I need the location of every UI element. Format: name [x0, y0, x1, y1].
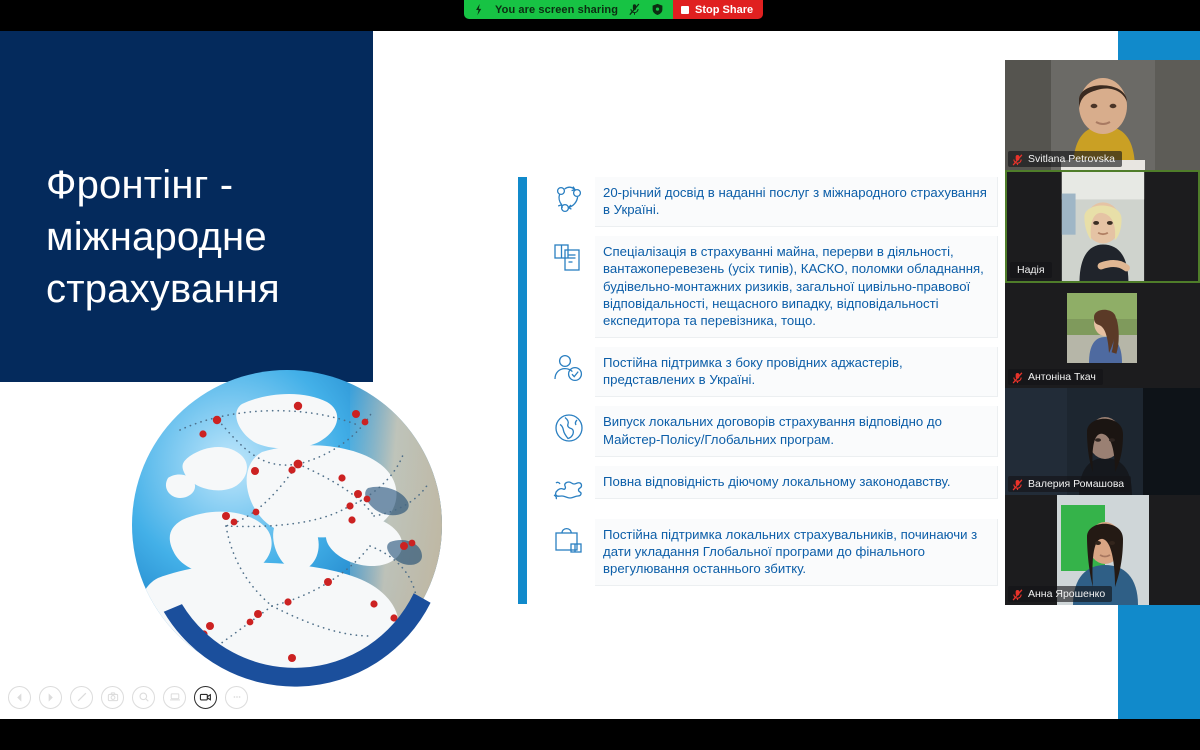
- participant-video-strip: Svitlana Petrovska Надія: [1005, 60, 1200, 605]
- share-status-text: You are screen sharing: [495, 4, 618, 16]
- previous-slide-icon[interactable]: [8, 686, 31, 709]
- list-item-text: Постійна підтримка локальних страхувальн…: [603, 526, 987, 577]
- list-item-bubble: Постійна підтримка локальних страхувальн…: [595, 519, 998, 586]
- stop-square-icon: [681, 6, 689, 14]
- participant-name: Надія: [1017, 264, 1045, 276]
- participant-tile[interactable]: Svitlana Petrovska: [1005, 60, 1200, 170]
- microphone-muted-icon[interactable]: [628, 3, 641, 16]
- list-item: Випуск локальних договорів страхування в…: [518, 406, 998, 456]
- stop-share-label: Stop Share: [695, 4, 753, 16]
- list-item-text: Повна відповідність діючому локальному з…: [603, 473, 987, 490]
- list-item-bubble: 20-річний досвід в наданні послуг з міжн…: [595, 177, 998, 227]
- list-item-bubble: Постійна підтримка з боку провідних аджа…: [595, 347, 998, 397]
- window-bottom-black-area: [0, 719, 1200, 750]
- user-check-icon: [543, 347, 595, 391]
- security-shield-icon[interactable]: [651, 3, 664, 16]
- list-item: Спеціалізація в страхуванні майна, перер…: [518, 236, 998, 338]
- zoom-screen-share-window: You are screen sharing Stop Share: [0, 0, 1200, 750]
- page-title: Фронтінг - міжнародне страхування: [46, 159, 376, 315]
- list-item-bubble: Випуск локальних договорів страхування в…: [595, 406, 998, 456]
- globe-europe-network-graphic: [122, 360, 452, 690]
- participant-name: Валерия Ромашова: [1028, 478, 1124, 490]
- list-item-text: Спеціалізація в страхуванні майна, перер…: [603, 243, 987, 329]
- camera-photo-icon[interactable]: [101, 686, 124, 709]
- participant-tile[interactable]: Валерия Ромашова: [1005, 388, 1200, 495]
- presentation-toolbar: [0, 681, 268, 713]
- participant-name-badge: Анна Ярошенко: [1008, 586, 1112, 602]
- magnifier-icon[interactable]: [132, 686, 155, 709]
- participant-name: Svitlana Petrovska: [1028, 153, 1115, 165]
- pen-annotate-icon[interactable]: [70, 686, 93, 709]
- participant-name-badge: Валерия Ромашова: [1008, 476, 1131, 492]
- participant-name: Антоніна Ткач: [1028, 371, 1096, 383]
- europe-map-icon: [543, 466, 595, 510]
- microphone-muted-icon: [1012, 588, 1023, 600]
- list-item-text: Постійна підтримка з боку провідних аджа…: [603, 354, 987, 388]
- screen-share-icon: [472, 3, 485, 16]
- microphone-muted-icon: [1012, 371, 1023, 383]
- list-item: 20-річний досвід в наданні послуг з міжн…: [518, 177, 998, 227]
- participant-name-badge: Svitlana Petrovska: [1008, 151, 1122, 167]
- list-item: Постійна підтримка з боку провідних аджа…: [518, 347, 998, 397]
- participant-tile[interactable]: Антоніна Ткач: [1005, 283, 1200, 388]
- briefcase-icon: [543, 519, 595, 563]
- participant-tile[interactable]: Анна Ярошенко: [1005, 495, 1200, 605]
- share-status-group: You are screen sharing: [464, 0, 673, 19]
- video-camera-icon[interactable]: [194, 686, 217, 709]
- globe-illustration: [122, 360, 452, 690]
- list-item-bubble: Спеціалізація в страхуванні майна, перер…: [595, 236, 998, 338]
- laptop-icon[interactable]: [163, 686, 186, 709]
- microphone-muted-icon: [1012, 478, 1023, 490]
- list-item-text: 20-річний досвід в наданні послуг з міжн…: [603, 184, 987, 218]
- participant-tile[interactable]: Надія: [1005, 170, 1200, 283]
- list-item-bubble: Повна відповідність діючому локальному з…: [595, 466, 998, 499]
- list-item-text: Випуск локальних договорів страхування в…: [603, 413, 987, 447]
- documents-icon: [543, 236, 595, 280]
- participant-name-badge: Надія: [1010, 262, 1052, 278]
- screen-share-banner: You are screen sharing Stop Share: [464, 0, 763, 19]
- cycle-arrows-icon: [543, 177, 595, 221]
- participant-name-badge: Антоніна Ткач: [1008, 369, 1103, 385]
- list-item: Постійна підтримка локальних страхувальн…: [518, 519, 998, 586]
- globe-icon: [543, 406, 595, 450]
- more-options-icon[interactable]: [225, 686, 248, 709]
- shared-slide-content: Фронтінг - міжнародне страхування: [0, 31, 1118, 719]
- feature-list: 20-річний досвід в наданні послуг з міжн…: [518, 177, 998, 595]
- stop-share-button[interactable]: Stop Share: [673, 0, 763, 19]
- participant-name: Анна Ярошенко: [1028, 588, 1105, 600]
- microphone-muted-icon: [1012, 153, 1023, 165]
- list-item: Повна відповідність діючому локальному з…: [518, 466, 998, 510]
- next-slide-icon[interactable]: [39, 686, 62, 709]
